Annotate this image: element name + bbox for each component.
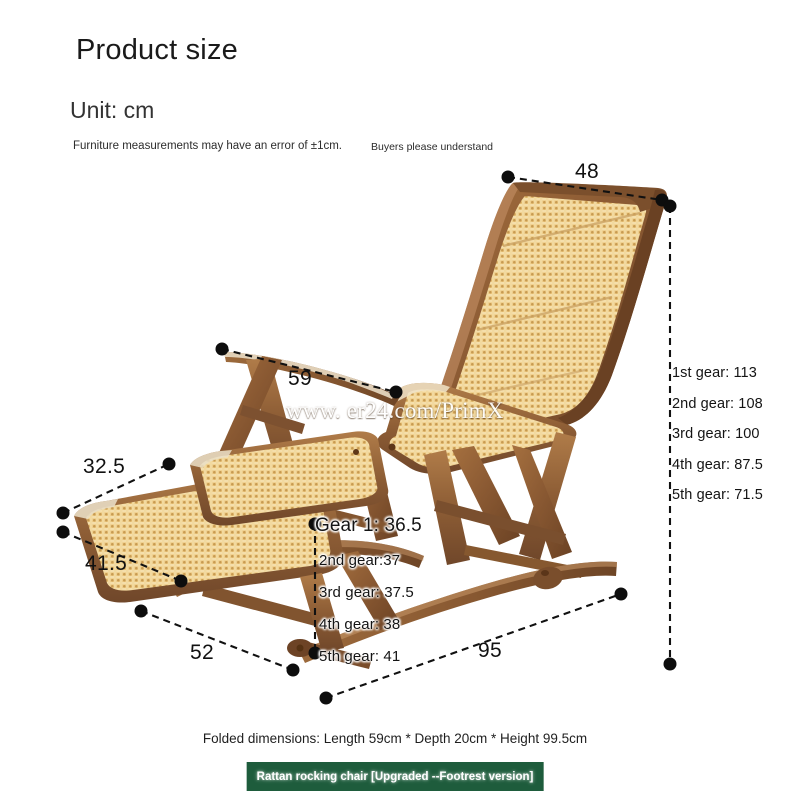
gear-seat-row-4: 4th gear: 38 [319, 616, 422, 633]
dim-label-backrest-width: 48 [575, 160, 599, 184]
site-watermark: www. er24.com/PrimX [286, 398, 504, 424]
gear-seat-height-list: Gear 1: 36.5 2nd gear:37 3rd gear: 37.5 … [319, 515, 422, 680]
gear-seat-row-3: 3rd gear: 37.5 [319, 584, 422, 601]
secondary-seat-panel [190, 431, 388, 525]
product-name-badge-label: Rattan rocking chair [Upgraded --Footres… [257, 771, 534, 783]
dim-label-footrest-depth: 41.5 [85, 552, 127, 576]
gear-height-row-5: 5th gear: 71.5 [672, 487, 763, 503]
gear-height-row-4: 4th gear: 87.5 [672, 457, 763, 473]
product-name-badge: Rattan rocking chair [Upgraded --Footres… [247, 762, 544, 791]
dim-label-footrest-width: 32.5 [83, 455, 125, 479]
gear-seat-row-2: 2nd gear:37 [319, 552, 422, 569]
product-size-diagram: Product size Unit: cm Furniture measurem… [0, 0, 790, 796]
gear-height-row-1: 1st gear: 113 [672, 365, 763, 381]
dim-label-overall-length: 95 [478, 639, 502, 663]
dim-label-seat-depth: 59 [288, 367, 312, 391]
gear-height-row-2: 2nd gear: 108 [672, 396, 763, 412]
folded-dimensions-note: Folded dimensions: Length 59cm * Depth 2… [203, 731, 587, 746]
gear-height-row-3: 3rd gear: 100 [672, 426, 763, 442]
dim-label-base-width: 52 [190, 641, 214, 665]
gear-seat-row-1: Gear 1: 36.5 [315, 515, 422, 537]
gear-height-list: 1st gear: 113 2nd gear: 108 3rd gear: 10… [672, 365, 763, 518]
gear-seat-row-5: 5th gear: 41 [319, 648, 422, 665]
